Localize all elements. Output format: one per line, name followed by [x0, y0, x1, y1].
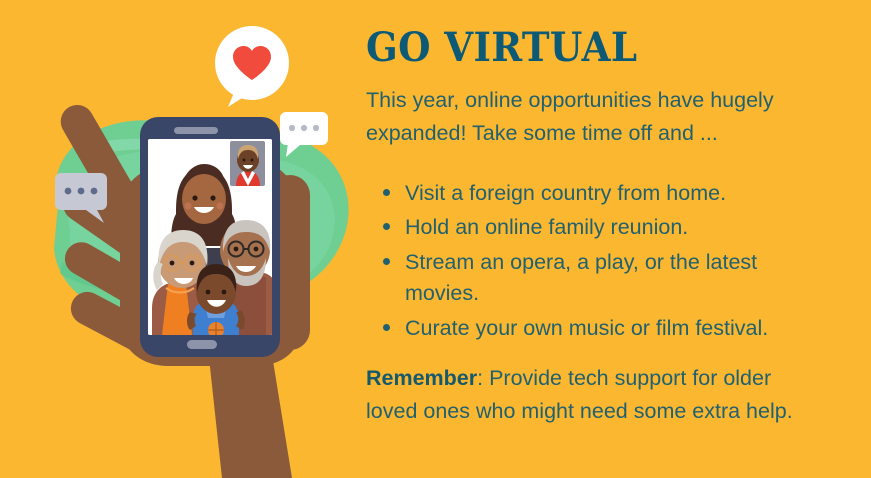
list-item: Stream an opera, a play, or the latest m…	[380, 247, 800, 310]
text-column: GO VIRTUAL This year, online opportuniti…	[366, 0, 844, 478]
self-view-thumbnail	[230, 141, 265, 190]
video-call-screen	[148, 139, 280, 338]
intro-paragraph: This year, online opportunities have hug…	[366, 84, 796, 149]
heart-reaction-bubble	[215, 26, 289, 107]
smartphone	[140, 117, 280, 357]
poster-canvas: GO VIRTUAL This year, online opportuniti…	[0, 0, 871, 478]
remember-label: Remember	[366, 366, 477, 390]
illustration-hand-holding-phone	[0, 0, 360, 478]
remember-note: Remember: Provide tech support for older…	[366, 362, 821, 427]
suggestions-list: Visit a foreign country from home. Hold …	[380, 178, 800, 347]
page-title: GO VIRTUAL	[366, 28, 637, 68]
remember-separator: :	[477, 366, 489, 390]
list-item: Hold an online family reunion.	[380, 212, 800, 243]
list-item: Curate your own music or film festival.	[380, 313, 800, 344]
list-item: Visit a foreign country from home.	[380, 178, 800, 209]
